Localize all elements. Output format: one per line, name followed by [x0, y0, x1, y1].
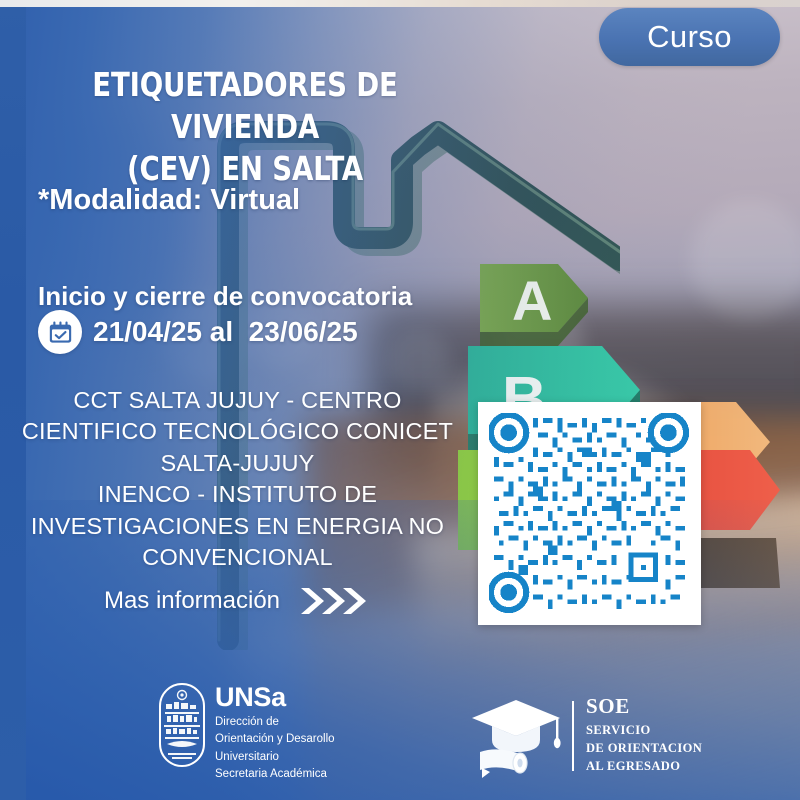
unsa-crest-icon: [158, 682, 206, 768]
soe-logo-text: SOE SERVICIO DE ORIENTACION AL EGRESADO: [586, 696, 702, 775]
unsa-logo-text: UNSa Dirección de Orientación y Desaroll…: [215, 682, 335, 783]
institution-line-5: INVESTIGACIONES EN ENERGIA NO: [0, 511, 475, 542]
soe-logo: SOE SERVICIO DE ORIENTACION AL EGRESADO: [468, 694, 702, 778]
modality-text: *Modalidad: Virtual: [38, 184, 300, 217]
poster-canvas: A B C: [0, 0, 800, 800]
unsa-sub-line-4: Secretaria Académica: [215, 766, 335, 783]
page-title-line-1: ETIQUETADORES DE VIVIENDA: [17, 64, 473, 148]
call-heading: Inicio y cierre de convocatoria: [38, 281, 412, 312]
call-dates: 21/04/25 al 23/06/25: [93, 316, 358, 348]
institution-line-6: CONVENCIONAL: [0, 542, 475, 573]
soe-sub-line-2: DE ORIENTACION: [586, 740, 702, 758]
unsa-sub-line-2: Orientación y Desarollo: [215, 731, 335, 748]
soe-sub-line-3: AL EGRESADO: [586, 758, 702, 776]
institution-line-4: INENCO - INSTITUTO DE: [0, 479, 475, 510]
unsa-sub-line-1: Dirección de: [215, 714, 335, 731]
unsa-sub-line-3: Universitario: [215, 749, 335, 766]
soe-sub-line-1: SERVICIO: [586, 722, 702, 740]
more-info-row[interactable]: Mas información: [0, 584, 470, 618]
institution-block: CCT SALTA JUJUY - CENTRO CIENTIFICO TECN…: [0, 385, 475, 574]
soe-name: SOE: [586, 696, 702, 717]
graduation-cap-diploma-icon: [468, 694, 566, 778]
soe-divider: [572, 701, 574, 771]
qr-code[interactable]: [478, 402, 701, 625]
triple-chevron-right-icon: [298, 584, 366, 618]
poster-content: ETIQUETADORES DE VIVIENDA (CEV) EN SALTA…: [0, 0, 800, 800]
more-info-label: Mas información: [104, 587, 280, 615]
institution-line-3: SALTA-JUJUY: [0, 448, 475, 479]
call-dates-row: 21/04/25 al 23/06/25: [38, 310, 358, 354]
calendar-check-icon: [38, 310, 82, 354]
unsa-logo: UNSa Dirección de Orientación y Desaroll…: [158, 682, 335, 783]
unsa-name: UNSa: [215, 684, 335, 711]
institution-line-2: CIENTIFICO TECNOLÓGICO CONICET: [0, 416, 475, 447]
page-title: ETIQUETADORES DE VIVIENDA (CEV) EN SALTA: [17, 64, 473, 191]
institution-line-1: CCT SALTA JUJUY - CENTRO: [0, 385, 475, 416]
